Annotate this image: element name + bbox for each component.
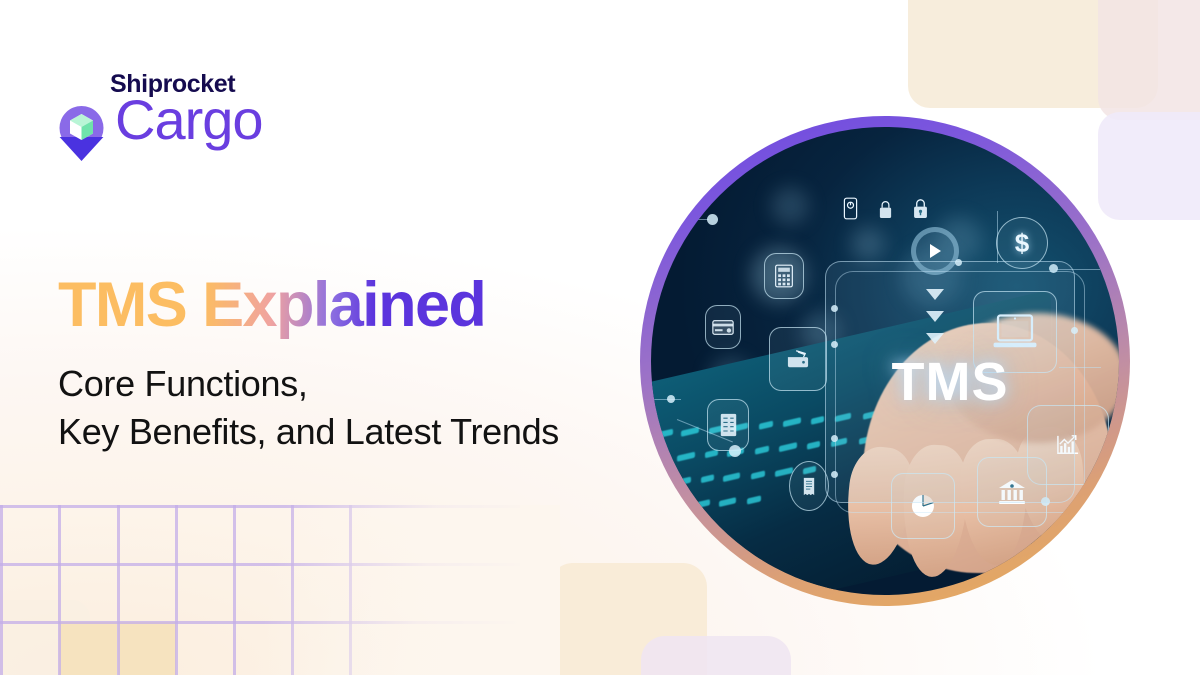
page-subtitle-line-2: Key Benefits, and Latest Trends bbox=[58, 408, 678, 456]
headline-block: TMS Explained Core Functions, Key Benefi… bbox=[58, 272, 678, 456]
credit-card-icon bbox=[705, 305, 741, 349]
receipt-icon bbox=[789, 461, 829, 511]
hero-image-circle: $ bbox=[640, 116, 1130, 606]
lock-closed-icon bbox=[873, 193, 897, 225]
calculator-icon bbox=[764, 253, 804, 299]
brand-logo[interactable]: Shiprocket Cargo bbox=[55, 70, 355, 165]
poster-canvas: Shiprocket Cargo TMS Explained Core Func… bbox=[0, 0, 1200, 675]
decor-grid-bottom-left bbox=[0, 505, 520, 675]
decor-block-pink-top-right bbox=[1098, 0, 1200, 120]
tms-panel: TMS bbox=[825, 261, 1075, 503]
decor-block-lavender-bottom-center bbox=[641, 636, 791, 675]
lock-keyhole-icon bbox=[907, 191, 933, 225]
page-subtitle-line-1: Core Functions, bbox=[58, 360, 678, 408]
location-pin-cube-icon bbox=[55, 104, 108, 162]
page-title-text: TMS Explained bbox=[58, 270, 485, 340]
hero-photo: $ bbox=[651, 127, 1119, 595]
mobile-phone-icon bbox=[837, 191, 863, 225]
page-subtitle: Core Functions, Key Benefits, and Latest… bbox=[58, 360, 678, 456]
dollar-symbol: $ bbox=[1015, 228, 1029, 259]
checklist-document-icon bbox=[707, 399, 749, 451]
tms-label: TMS bbox=[892, 351, 1009, 413]
page-title: TMS Explained bbox=[58, 272, 678, 338]
wallet-icon bbox=[769, 327, 827, 391]
brand-name-main: Cargo bbox=[115, 92, 263, 148]
